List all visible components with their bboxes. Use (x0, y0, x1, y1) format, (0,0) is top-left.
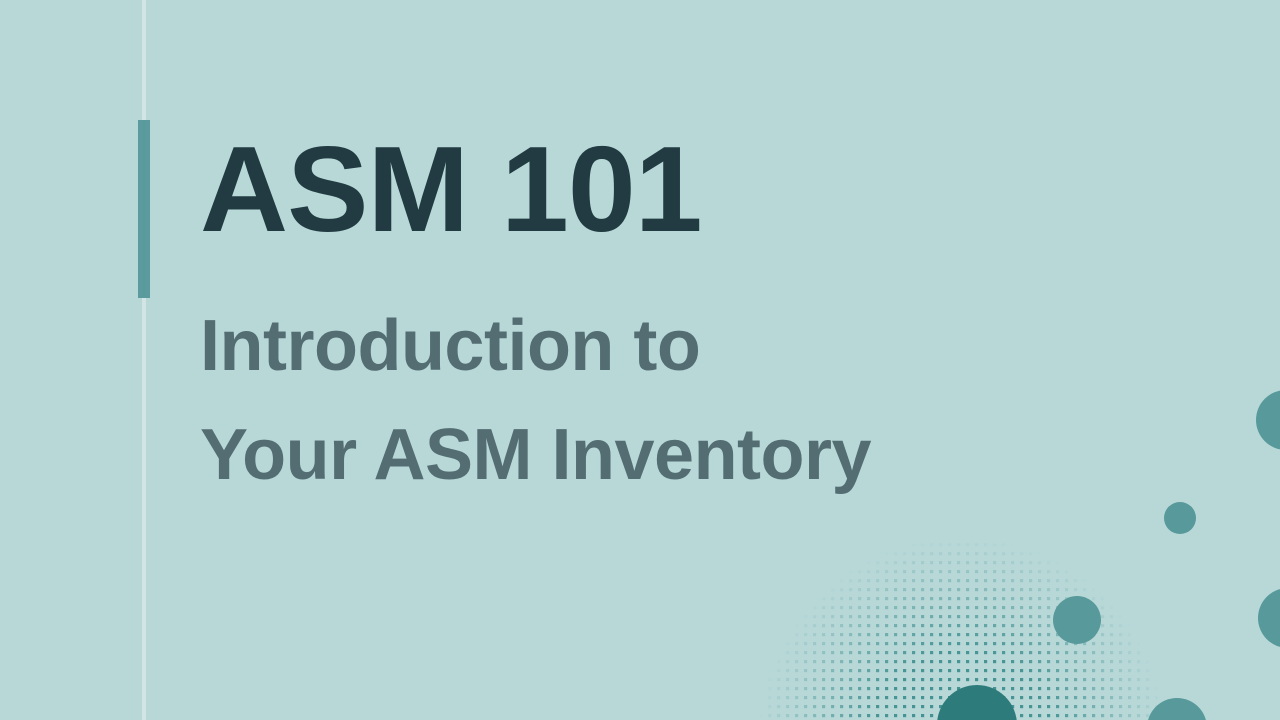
circle-center-icon (1053, 596, 1101, 644)
circle-right-lower-icon (1258, 588, 1280, 648)
slide-subtitle: Introduction to Your ASM Inventory (200, 250, 1130, 511)
circle-mid-right-icon (1164, 502, 1196, 534)
title-text-block: ASM 101 Introduction to Your ASM Invento… (200, 128, 1130, 511)
title-accent-bar (138, 120, 150, 298)
circle-right-upper-icon (1256, 390, 1280, 450)
slide-title: ASM 101 (200, 128, 1130, 250)
circle-bottom-dark-icon (937, 685, 1017, 720)
slide-subtitle-line-2: Your ASM Inventory (200, 401, 1130, 510)
circle-bottom-right-icon (1147, 698, 1207, 720)
slide-subtitle-line-1: Introduction to (200, 292, 1130, 401)
vertical-guide-line (142, 0, 146, 720)
halftone-dot-cluster (740, 520, 1200, 720)
title-slide: ASM 101 Introduction to Your ASM Invento… (0, 0, 1280, 720)
